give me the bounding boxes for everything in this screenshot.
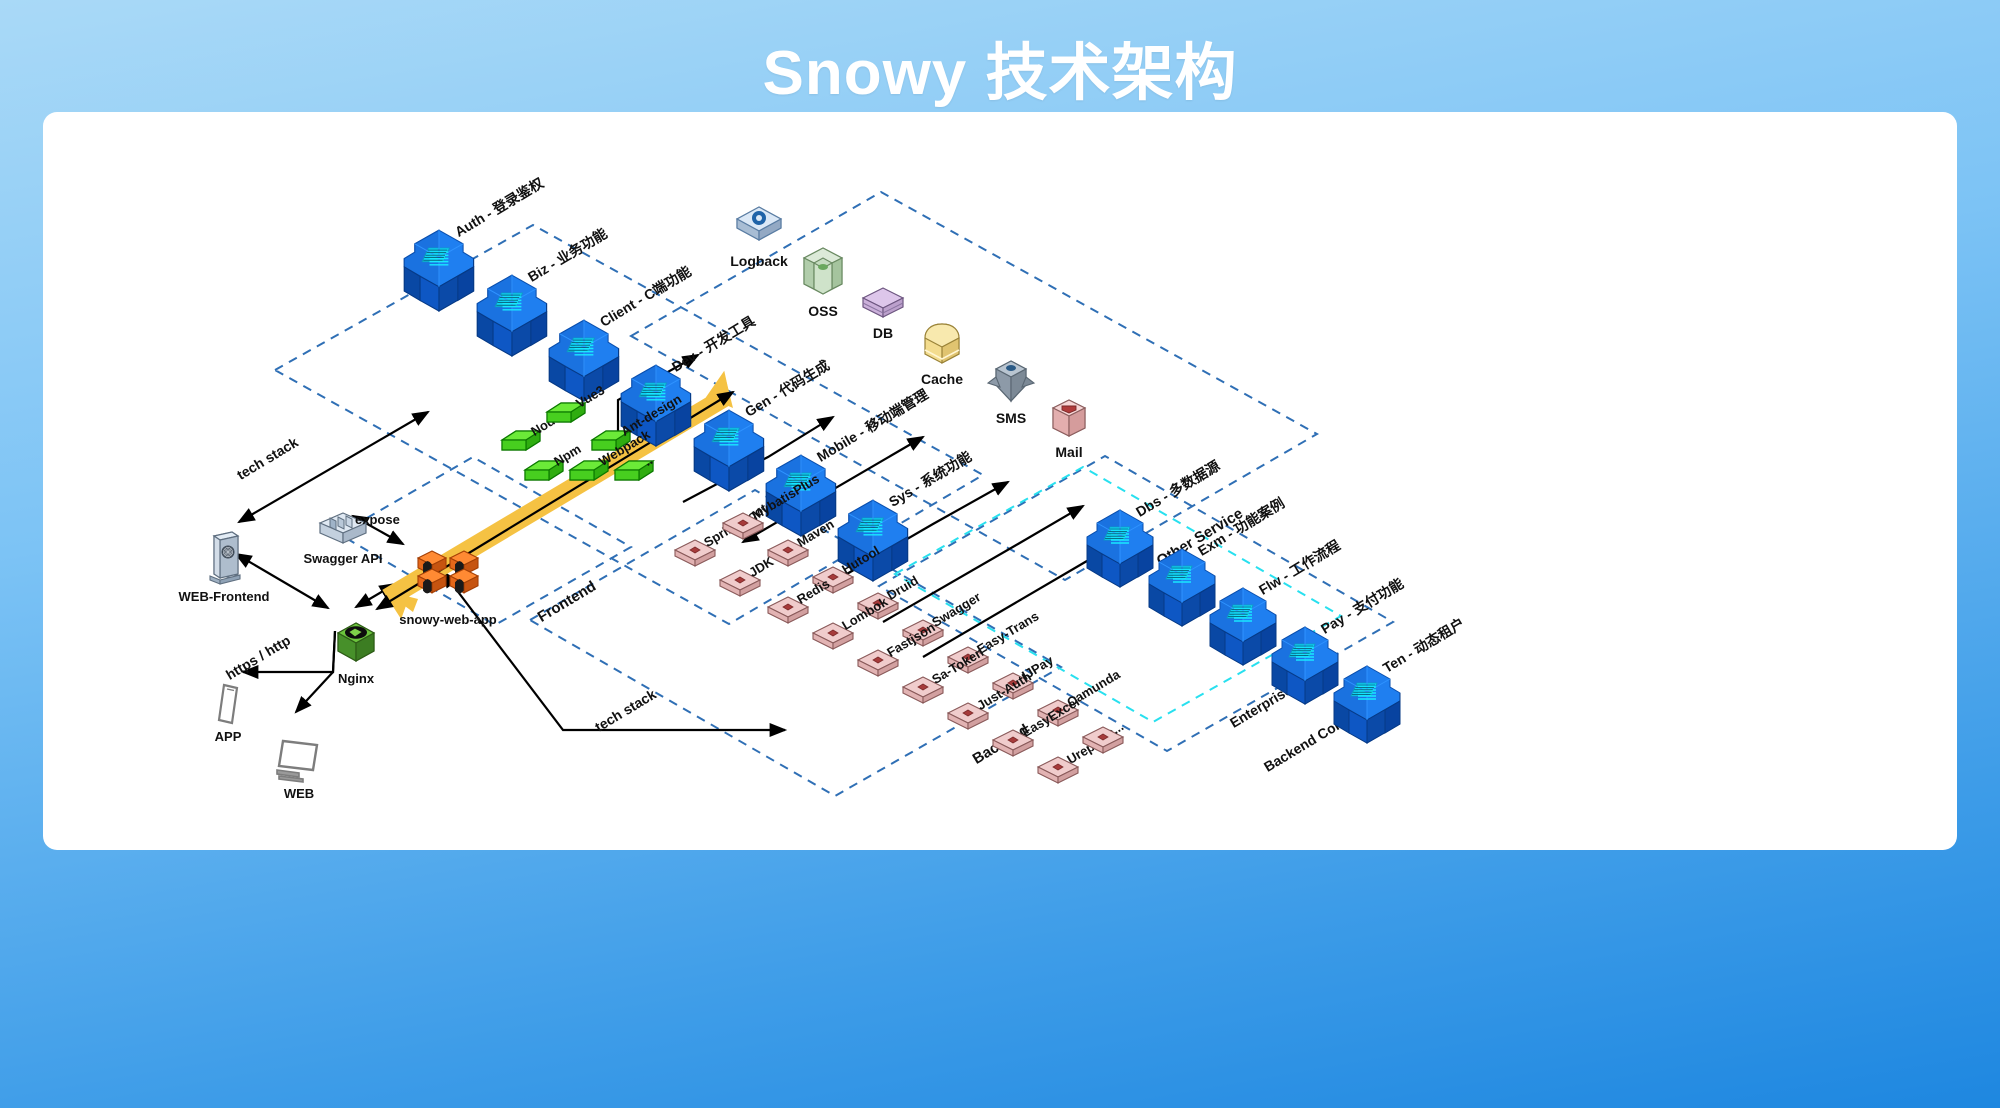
backend-tech-block: Sa-Token: [901, 674, 945, 706]
service-node: Logback: [733, 204, 785, 250]
backend-tech-block: Fastjson: [856, 647, 900, 679]
backend-tech-block: JDK: [718, 567, 762, 599]
edge-node-label: snowy-web-app: [399, 612, 497, 627]
mail-cylinder-icon: [1049, 395, 1089, 441]
edge-node-label: APP: [215, 729, 242, 744]
backend-tech-block: EasyExcel: [991, 727, 1035, 759]
gear-disc-icon: [733, 204, 785, 250]
monitor-icon: [273, 737, 325, 783]
service-label: SMS: [996, 410, 1026, 426]
service-label: Cache: [921, 371, 963, 387]
module-cube-icon: [471, 272, 553, 362]
nginx-hex-icon: [331, 620, 381, 668]
frontend-tech-block: Node.js: [498, 427, 544, 455]
server-tower-icon: [206, 530, 242, 586]
edge-node-label: WEB: [284, 786, 314, 801]
edge-node: WEB-Frontend: [206, 530, 242, 586]
backend-tech-block: Ureport2: [1036, 754, 1080, 786]
database-icon: [859, 284, 907, 322]
edge-node: Nginx: [331, 620, 381, 668]
page-title: Snowy 技术架构: [0, 22, 2000, 112]
module-cube-icon: [398, 227, 480, 317]
module-cube-icon: [1328, 663, 1406, 749]
service-node: Mail: [1049, 395, 1089, 441]
service-label: OSS: [808, 303, 838, 319]
edge-node-label: WEB-Frontend: [179, 589, 270, 604]
service-node: Cache: [919, 320, 965, 368]
shield-icon: [986, 357, 1036, 407]
frontend-tech-block: ..: [611, 457, 657, 485]
edge-node-label: Swagger API: [304, 551, 383, 566]
edge-node: WEB: [273, 737, 325, 783]
service-label: DB: [873, 325, 893, 341]
backend-tech-block: Lombok: [811, 620, 855, 652]
diagram-canvas: Frontend Other Service Backend Enterpris…: [43, 112, 1957, 850]
frontend-tech-block: Webpack: [566, 457, 612, 485]
backend-tech-block: Just-Auth: [946, 700, 990, 732]
app-cubes-icon: [406, 547, 490, 609]
frontend-tech-block: Vue3: [543, 399, 589, 427]
edge-node-label: Nginx: [338, 671, 374, 686]
service-node: DB: [859, 284, 907, 322]
module-block: Auth - 登录鉴权: [398, 227, 480, 317]
cache-icon: [919, 320, 965, 368]
phone-icon: [215, 682, 241, 726]
edge-node: snowy-web-app: [406, 547, 490, 609]
service-label: Mail: [1055, 444, 1082, 460]
service-node: OSS: [800, 244, 846, 300]
edge-label-expose: expose: [355, 512, 400, 527]
edge-node: APP: [215, 682, 241, 726]
storage-icon: [800, 244, 846, 300]
frontend-tech-block: Npm: [521, 457, 567, 485]
backend-tech-block: SpringBoot: [673, 537, 717, 569]
core-plugin-block: Ten - 动态租户: [1328, 663, 1406, 749]
service-label: Logback: [730, 253, 788, 269]
module-block: Biz - 业务功能: [471, 272, 553, 362]
module-cube-icon: [688, 407, 770, 497]
module-block: Gen - 代码生成: [688, 407, 770, 497]
backend-tech-block: ...: [1081, 724, 1125, 756]
backend-tech-block: MybatisPlus: [721, 510, 765, 542]
service-node: SMS: [986, 357, 1036, 407]
backend-tech-block: Redis: [766, 594, 810, 626]
